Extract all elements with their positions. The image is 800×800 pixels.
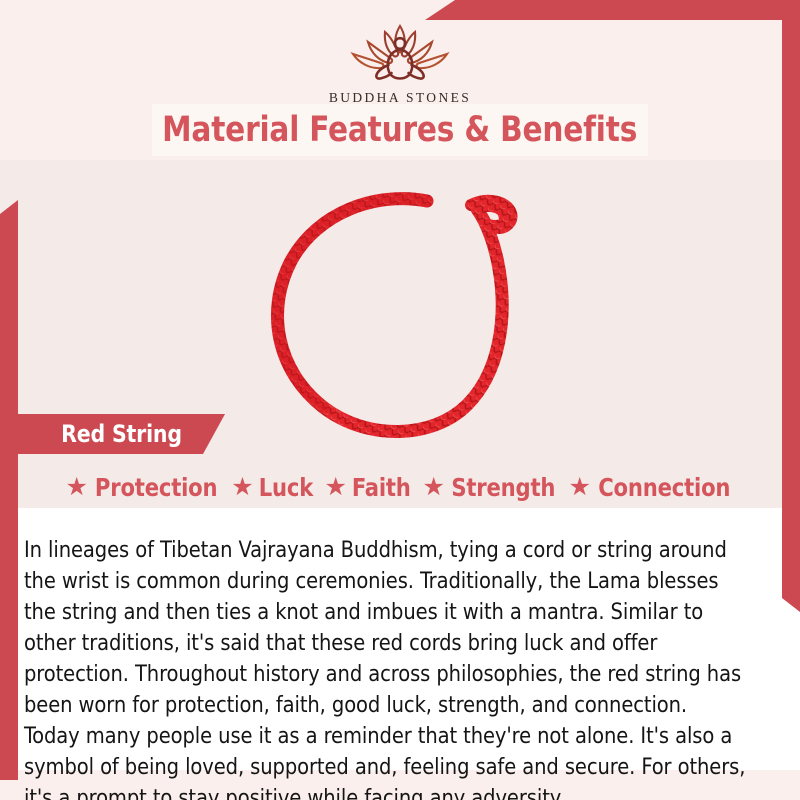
benefit-item-faith: ★ Faith bbox=[325, 473, 413, 502]
description-text: In lineages of Tibetan Vajrayana Buddhis… bbox=[24, 535, 748, 800]
product-label-ribbon: Red String bbox=[18, 414, 225, 454]
star-icon: ★ bbox=[423, 475, 445, 500]
title-banner: Material Features & Benefits bbox=[152, 104, 648, 156]
benefit-label: Faith bbox=[352, 473, 411, 502]
page-title: Material Features & Benefits bbox=[163, 110, 638, 150]
product-label: Red String bbox=[61, 420, 182, 448]
star-icon: ★ bbox=[325, 475, 347, 500]
poster-canvas: BUDDHA STONES Material Features & Benefi… bbox=[0, 0, 800, 800]
benefit-item-strength: ★ Strength bbox=[423, 473, 559, 502]
benefit-item-luck: ★ Luck bbox=[231, 473, 314, 502]
red-braided-string-bracelet-icon bbox=[255, 165, 555, 450]
benefit-item-connection: ★ Connection bbox=[569, 473, 735, 502]
benefits-row: ★ Protection ★ Luck ★ Faith ★ Strength ★… bbox=[18, 466, 782, 508]
benefit-label: Strength bbox=[451, 473, 555, 502]
star-icon: ★ bbox=[66, 475, 88, 500]
benefit-item-protection: ★ Protection bbox=[66, 473, 222, 502]
lotus-meditation-icon bbox=[325, 16, 475, 88]
benefit-label: Protection bbox=[95, 473, 217, 502]
star-icon: ★ bbox=[569, 475, 591, 500]
accent-bar-right bbox=[782, 20, 800, 612]
brand-logo: BUDDHA STONES bbox=[0, 16, 800, 106]
accent-bar-left bbox=[0, 200, 18, 780]
product-image bbox=[255, 165, 555, 450]
benefit-label: Luck bbox=[258, 473, 312, 502]
star-icon: ★ bbox=[231, 475, 253, 500]
benefit-label: Connection bbox=[598, 473, 730, 502]
